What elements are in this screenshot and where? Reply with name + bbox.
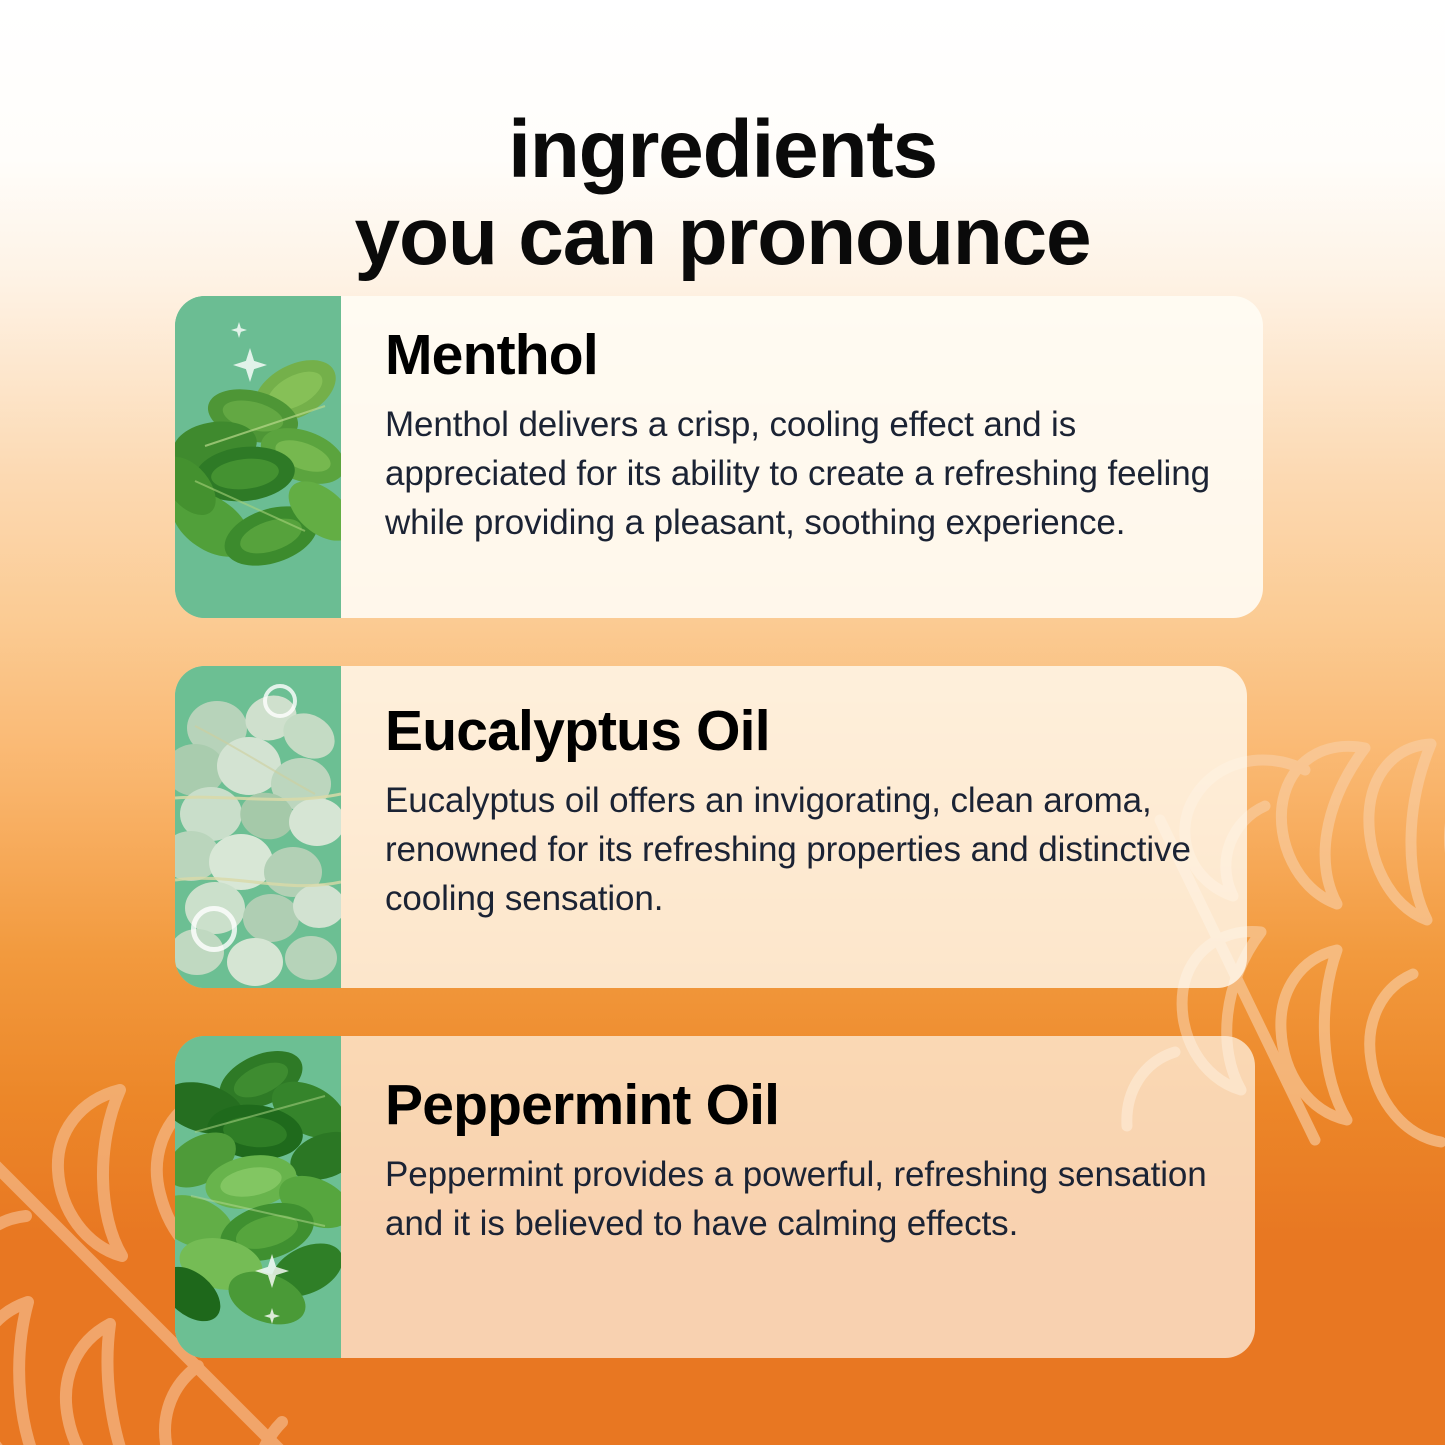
infographic-canvas: ingredients you can pronounce	[0, 0, 1445, 1445]
eucalyptus-title: Eucalyptus Oil	[385, 702, 1201, 762]
eucalyptus-body: Eucalyptus Oil Eucalyptus oil offers an …	[341, 666, 1247, 988]
peppermint-body: Peppermint Oil Peppermint provides a pow…	[341, 1036, 1255, 1358]
peppermint-title: Peppermint Oil	[385, 1076, 1209, 1136]
menthol-image	[175, 296, 341, 618]
peppermint-image	[175, 1036, 341, 1358]
menthol-description: Menthol delivers a crisp, cooling effect…	[385, 400, 1217, 547]
menthol-title: Menthol	[385, 326, 1217, 386]
page-title-line-2: you can pronounce	[0, 194, 1445, 281]
ring-small-icon	[263, 684, 297, 718]
ingredient-card-list: Menthol Menthol delivers a crisp, coolin…	[175, 296, 1265, 1406]
ring-large-icon	[191, 906, 237, 952]
ingredient-card-peppermint-oil: Peppermint Oil Peppermint provides a pow…	[175, 1036, 1255, 1358]
page-title-line-1: ingredients	[0, 107, 1445, 194]
eucalyptus-description: Eucalyptus oil offers an invigorating, c…	[385, 776, 1201, 923]
menthol-body: Menthol Menthol delivers a crisp, coolin…	[341, 296, 1263, 618]
peppermint-description: Peppermint provides a powerful, refreshi…	[385, 1150, 1209, 1248]
ingredient-card-eucalyptus-oil: Eucalyptus Oil Eucalyptus oil offers an …	[175, 666, 1247, 988]
ingredient-card-menthol: Menthol Menthol delivers a crisp, coolin…	[175, 296, 1263, 618]
page-title: ingredients you can pronounce	[0, 107, 1445, 281]
eucalyptus-image	[175, 666, 341, 988]
